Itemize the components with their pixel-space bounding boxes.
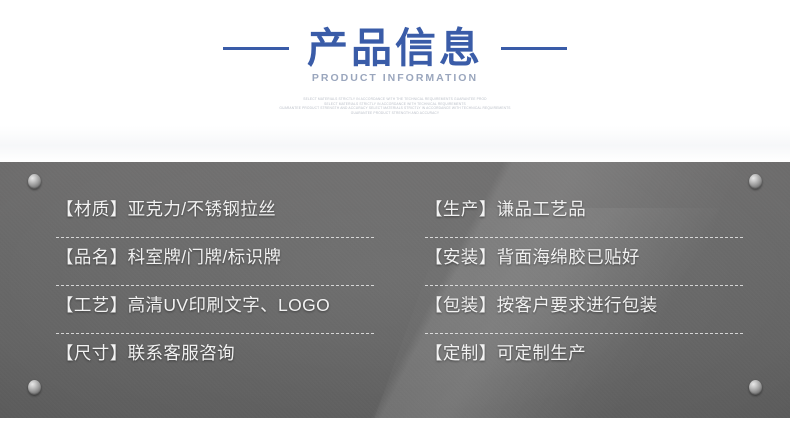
- product-information-banner: 产品信息 PRODUCT INFORMATION SELECT MATERIAL…: [0, 0, 790, 444]
- title-rule-left: [223, 47, 289, 50]
- spec-item-product-name: 【品名】科室牌/门牌/标识牌: [56, 244, 281, 269]
- fineprint-line: GUARANTEE PRODUCT STRENGTH AND ACCURACY: [0, 111, 790, 116]
- page-title: 产品信息: [307, 28, 483, 69]
- spec-column-right: 【生产】谦品工艺品 【安装】背面海绵胶已贴好 【包装】按客户要求进行包装 【定制…: [425, 190, 765, 382]
- spec-list: 【材质】亚克力/不锈钢拉丝 【品名】科室牌/门牌/标识牌 【工艺】高清UV印刷文…: [0, 162, 790, 418]
- header-gradient-divider: [0, 126, 790, 162]
- spec-item-packaging: 【包装】按客户要求进行包装: [425, 292, 658, 317]
- spec-row: 【尺寸】联系客服咨询: [56, 334, 396, 382]
- page-subtitle: PRODUCT INFORMATION: [0, 72, 790, 84]
- bottom-whitespace: [0, 418, 790, 444]
- spec-row: 【包装】按客户要求进行包装: [425, 286, 765, 334]
- header: 产品信息 PRODUCT INFORMATION SELECT MATERIAL…: [0, 0, 790, 162]
- spec-row: 【品名】科室牌/门牌/标识牌: [56, 238, 396, 286]
- spec-item-material: 【材质】亚克力/不锈钢拉丝: [56, 196, 276, 221]
- title-row: 产品信息: [0, 22, 790, 74]
- spec-item-size: 【尺寸】联系客服咨询: [56, 340, 235, 365]
- spec-item-producer: 【生产】谦品工艺品: [425, 196, 586, 221]
- spec-row: 【定制】可定制生产: [425, 334, 765, 382]
- fineprint-block: SELECT MATERIALS STRICTLY IN ACCORDANCE …: [0, 97, 790, 115]
- spec-row: 【工艺】高清UV印刷文字、LOGO: [56, 286, 396, 334]
- spec-column-left: 【材质】亚克力/不锈钢拉丝 【品名】科室牌/门牌/标识牌 【工艺】高清UV印刷文…: [56, 190, 396, 382]
- spec-row: 【安装】背面海绵胶已贴好: [425, 238, 765, 286]
- spec-item-installation: 【安装】背面海绵胶已贴好: [425, 244, 640, 269]
- spec-row: 【材质】亚克力/不锈钢拉丝: [56, 190, 396, 238]
- spec-item-process: 【工艺】高清UV印刷文字、LOGO: [56, 292, 330, 317]
- spec-row: 【生产】谦品工艺品: [425, 190, 765, 238]
- spec-item-customization: 【定制】可定制生产: [425, 340, 586, 365]
- title-rule-right: [501, 47, 567, 50]
